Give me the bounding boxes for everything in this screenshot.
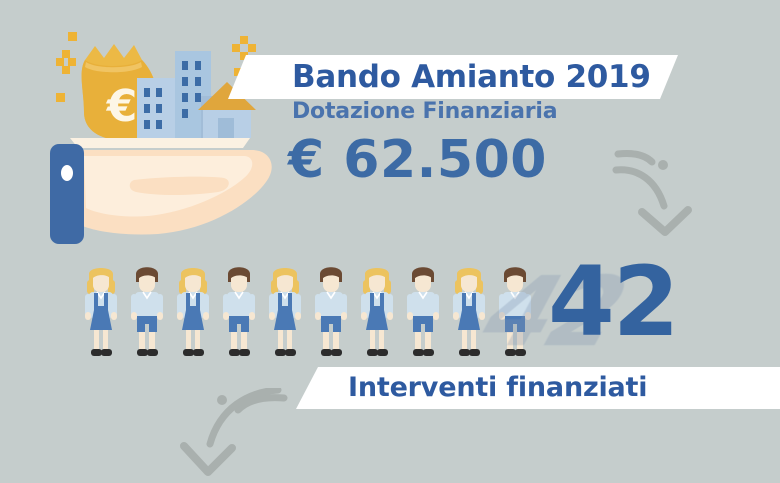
person-boy-icon: [312, 262, 350, 360]
person-boy-icon: [404, 262, 442, 360]
cuff-button-icon: [61, 165, 73, 181]
hand-holding-money-illustration: €: [38, 18, 298, 258]
page-subtitle: Dotazione Finanziaria: [292, 98, 557, 126]
curved-arrow-down-right-icon: [612, 140, 722, 240]
infographic-canvas: €: [0, 0, 780, 470]
count-label: Interventi finanziati: [348, 370, 647, 406]
curved-arrow-down-left-icon: [160, 388, 290, 483]
tray-shape: [70, 138, 250, 148]
person-boy-icon: [128, 262, 166, 360]
euro-symbol-icon: €: [106, 81, 138, 132]
count-value: 42: [548, 250, 678, 354]
page-title: Bando Amianto 2019: [292, 57, 651, 97]
person-girl-icon: [174, 262, 212, 360]
person-girl-icon: [266, 262, 304, 360]
amount-value: € 62.500: [288, 129, 547, 191]
person-girl-icon: [358, 262, 396, 360]
wrist-cuff: [50, 144, 84, 244]
person-girl-icon: [82, 262, 120, 360]
person-boy-icon: [220, 262, 258, 360]
